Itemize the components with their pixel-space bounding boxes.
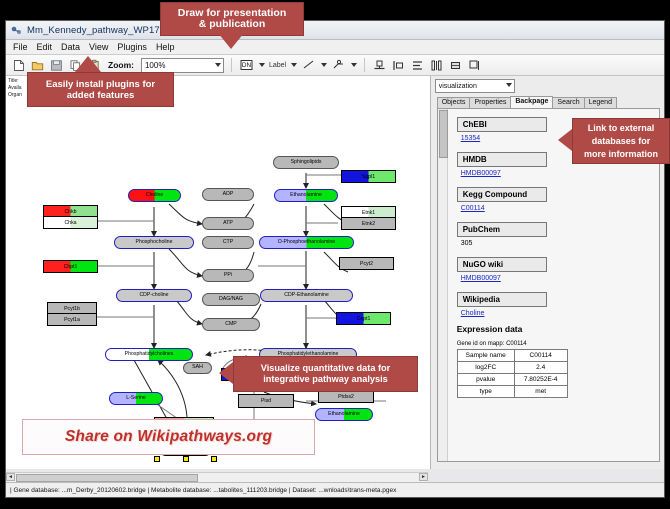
chevron-down-icon: [506, 83, 512, 87]
menu-bar: File Edit Data View Plugins Help: [6, 40, 664, 55]
gene-chka[interactable]: Chka: [43, 216, 98, 229]
db-link-hmdb[interactable]: HMDB00097: [461, 170, 653, 177]
callout-link-line3: more information: [584, 148, 658, 161]
node-sphingolipids[interactable]: Sphingolipids: [273, 156, 339, 169]
title-bar: Mm_Kennedy_pathway_WP1771_45176.gpml: [6, 21, 664, 40]
callout-visualize-line2: integrative pathway analysis: [263, 374, 388, 385]
status-bar: | Gene database: ...m_Derby_20120602.bri…: [6, 482, 664, 497]
db-value-pubchem: 305: [461, 240, 653, 247]
node-sah[interactable]: SAH: [183, 362, 212, 374]
db-header-hmdb: HMDB: [457, 152, 547, 167]
node-ethanolamine[interactable]: Ethanolamine: [274, 189, 338, 202]
tab-objects[interactable]: Objects: [437, 97, 471, 108]
callout-share-text: Share on Wikipathways.org: [65, 428, 272, 446]
callout-visualize: Visualize quantitative data for integrat…: [233, 356, 418, 392]
db-header-chebi: ChEBI: [457, 117, 547, 132]
expr-key: Sample name: [457, 350, 514, 362]
db-link-kegg-compound[interactable]: C00114: [461, 205, 653, 212]
menu-help[interactable]: Help: [156, 42, 175, 52]
callout-link: Link to external databases for more info…: [572, 118, 670, 164]
app-icon: [11, 25, 22, 36]
menu-view[interactable]: View: [89, 42, 108, 52]
align-icon[interactable]: [372, 58, 387, 73]
side-tabs: Objects Properties Backpage Search Legen…: [437, 95, 664, 108]
chevron-down-icon[interactable]: [259, 63, 265, 67]
spacing-icon[interactable]: [429, 58, 444, 73]
stack-icon[interactable]: [410, 58, 425, 73]
label-tool-label[interactable]: Label: [269, 62, 286, 69]
node-phosphatidylcholines[interactable]: Phosphatidylcholines: [105, 348, 193, 361]
table-row: Sample name C00114: [457, 350, 567, 362]
table-row: pvalue 7.80252E-4: [457, 374, 567, 386]
datanode-icon[interactable]: DN: [239, 58, 254, 73]
menu-plugins[interactable]: Plugins: [117, 42, 147, 52]
chevron-down-icon[interactable]: [351, 63, 357, 67]
menu-file[interactable]: File: [13, 42, 28, 52]
order-icon[interactable]: [467, 58, 482, 73]
node-atp[interactable]: ATP: [202, 217, 254, 230]
gene-pcyt2[interactable]: Pcyt2: [339, 257, 394, 270]
canvas-hscrollbar[interactable]: ◄ ►: [6, 472, 428, 482]
toolbar-separator: [231, 58, 232, 72]
db-header-wikipedia: Wikipedia: [457, 292, 547, 307]
db-link-wikipedia[interactable]: Choline: [461, 310, 653, 317]
node-ctp[interactable]: CTP: [202, 236, 254, 249]
expr-value: met: [514, 386, 567, 398]
node-adp[interactable]: ADP: [202, 188, 254, 201]
new-icon[interactable]: [11, 58, 26, 73]
gene-chpt1[interactable]: Chpt1: [43, 260, 98, 273]
svg-text:DN: DN: [242, 62, 252, 69]
db-link-nugo-wiki[interactable]: HMDB00097: [461, 275, 653, 282]
save-icon[interactable]: [49, 58, 64, 73]
db-header-nugo-wiki: NuGO wiki: [457, 257, 547, 272]
pathway-canvas[interactable]: Title: Availa Organ: [6, 76, 431, 469]
expr-value: 7.80252E-4: [514, 374, 567, 386]
node-phosphocholine[interactable]: Phosphocholine: [114, 236, 194, 249]
db-header-kegg-compound: Kegg Compound: [457, 187, 547, 202]
expression-table: Sample name C00114 log2FC 2.4 pvalue 7.8…: [457, 349, 568, 398]
callout-draw-arrow: [218, 33, 244, 49]
zoom-label: Zoom:: [108, 60, 134, 70]
tab-backpage[interactable]: Backpage: [510, 96, 553, 108]
gene-cept1[interactable]: Cept1: [336, 312, 391, 325]
tab-legend[interactable]: Legend: [584, 97, 617, 108]
expr-key: type: [457, 386, 514, 398]
callout-link-arrow: [558, 129, 572, 151]
selection-handle[interactable]: [154, 456, 160, 462]
table-row: log2FC 2.4: [457, 362, 567, 374]
gene-pcyt1a[interactable]: Pcyt1a: [47, 313, 97, 326]
scroll-left-icon[interactable]: ◄: [6, 473, 15, 481]
expression-data-heading: Expression data: [457, 324, 653, 334]
node-ppi[interactable]: PPi: [202, 269, 254, 282]
callout-plugins-line2: added features: [67, 90, 135, 101]
expr-key: pvalue: [457, 374, 514, 386]
callout-link-line1: Link to external: [588, 122, 655, 135]
visualization-select-value: visualization: [439, 83, 477, 90]
table-row: type met: [457, 386, 567, 398]
chevron-down-icon[interactable]: [321, 63, 327, 67]
expr-value: 2.4: [514, 362, 567, 374]
zoom-value: 100%: [145, 61, 165, 70]
line-icon[interactable]: [301, 58, 316, 73]
callout-visualize-arrow: [219, 362, 233, 384]
node-cmp[interactable]: CMP: [202, 318, 260, 331]
chevron-down-icon[interactable]: [291, 63, 297, 67]
node-cdp-choline[interactable]: CDP-choline: [116, 289, 192, 302]
callout-plugins: Easily install plugins for added feature…: [27, 72, 174, 107]
node-o-phosphoethanolamine[interactable]: O-Phosphoethanolamine: [259, 236, 354, 249]
node-cdp-ethanolamine[interactable]: CDP-Ethanolamine: [260, 289, 353, 302]
expr-value: C00114: [514, 350, 567, 362]
selection-handle[interactable]: [183, 456, 189, 462]
callout-plugins-arrow: [75, 56, 101, 72]
gene-pisd[interactable]: Pisd: [238, 394, 294, 408]
callout-link-line2: databases for: [592, 135, 651, 148]
menu-data[interactable]: Data: [61, 42, 80, 52]
callout-draw-line2: & publication: [199, 19, 266, 30]
gene-etnk2[interactable]: Etnk2: [341, 217, 396, 230]
interaction-icon[interactable]: [331, 58, 346, 73]
db-header-pubchem: PubChem: [457, 222, 547, 237]
menu-edit[interactable]: Edit: [37, 42, 53, 52]
group-icon[interactable]: [448, 58, 463, 73]
gene-id-line: Gene id on mapp: C00114: [457, 341, 653, 347]
distribute-icon[interactable]: [391, 58, 406, 73]
zoom-combobox[interactable]: 100%: [141, 58, 224, 73]
selection-handle[interactable]: [211, 456, 217, 462]
node-ethanolamine-bottom[interactable]: Ethanolamine: [315, 408, 373, 421]
callout-draw: Draw for presentation & publication: [160, 2, 304, 36]
tab-search[interactable]: Search: [552, 97, 584, 108]
toolbar-separator: [364, 58, 365, 72]
status-text: | Gene database: ...m_Derby_20120602.bri…: [10, 487, 396, 494]
open-icon[interactable]: [30, 58, 45, 73]
node-choline[interactable]: Choline: [128, 189, 181, 202]
callout-share: Share on Wikipathways.org: [22, 419, 315, 455]
chevron-down-icon: [215, 63, 221, 67]
node-dag-nag[interactable]: DAG/NAG: [202, 293, 260, 306]
backpage-scrollbar[interactable]: [438, 109, 448, 461]
scrollbar-thumb[interactable]: [439, 110, 448, 158]
tab-properties[interactable]: Properties: [469, 97, 511, 108]
callout-visualize-line1: Visualize quantitative data for: [261, 363, 391, 374]
hscrollbar-thumb[interactable]: [16, 474, 198, 482]
gene-sgpl1[interactable]: Sgpl1: [341, 170, 396, 183]
visualization-select[interactable]: visualization: [435, 79, 515, 93]
scroll-right-icon[interactable]: ►: [419, 473, 428, 481]
node-l-serine-left[interactable]: L-Serine: [109, 392, 163, 405]
callout-plugins-line1: Easily install plugins for: [46, 79, 155, 90]
expr-key: log2FC: [457, 362, 514, 374]
